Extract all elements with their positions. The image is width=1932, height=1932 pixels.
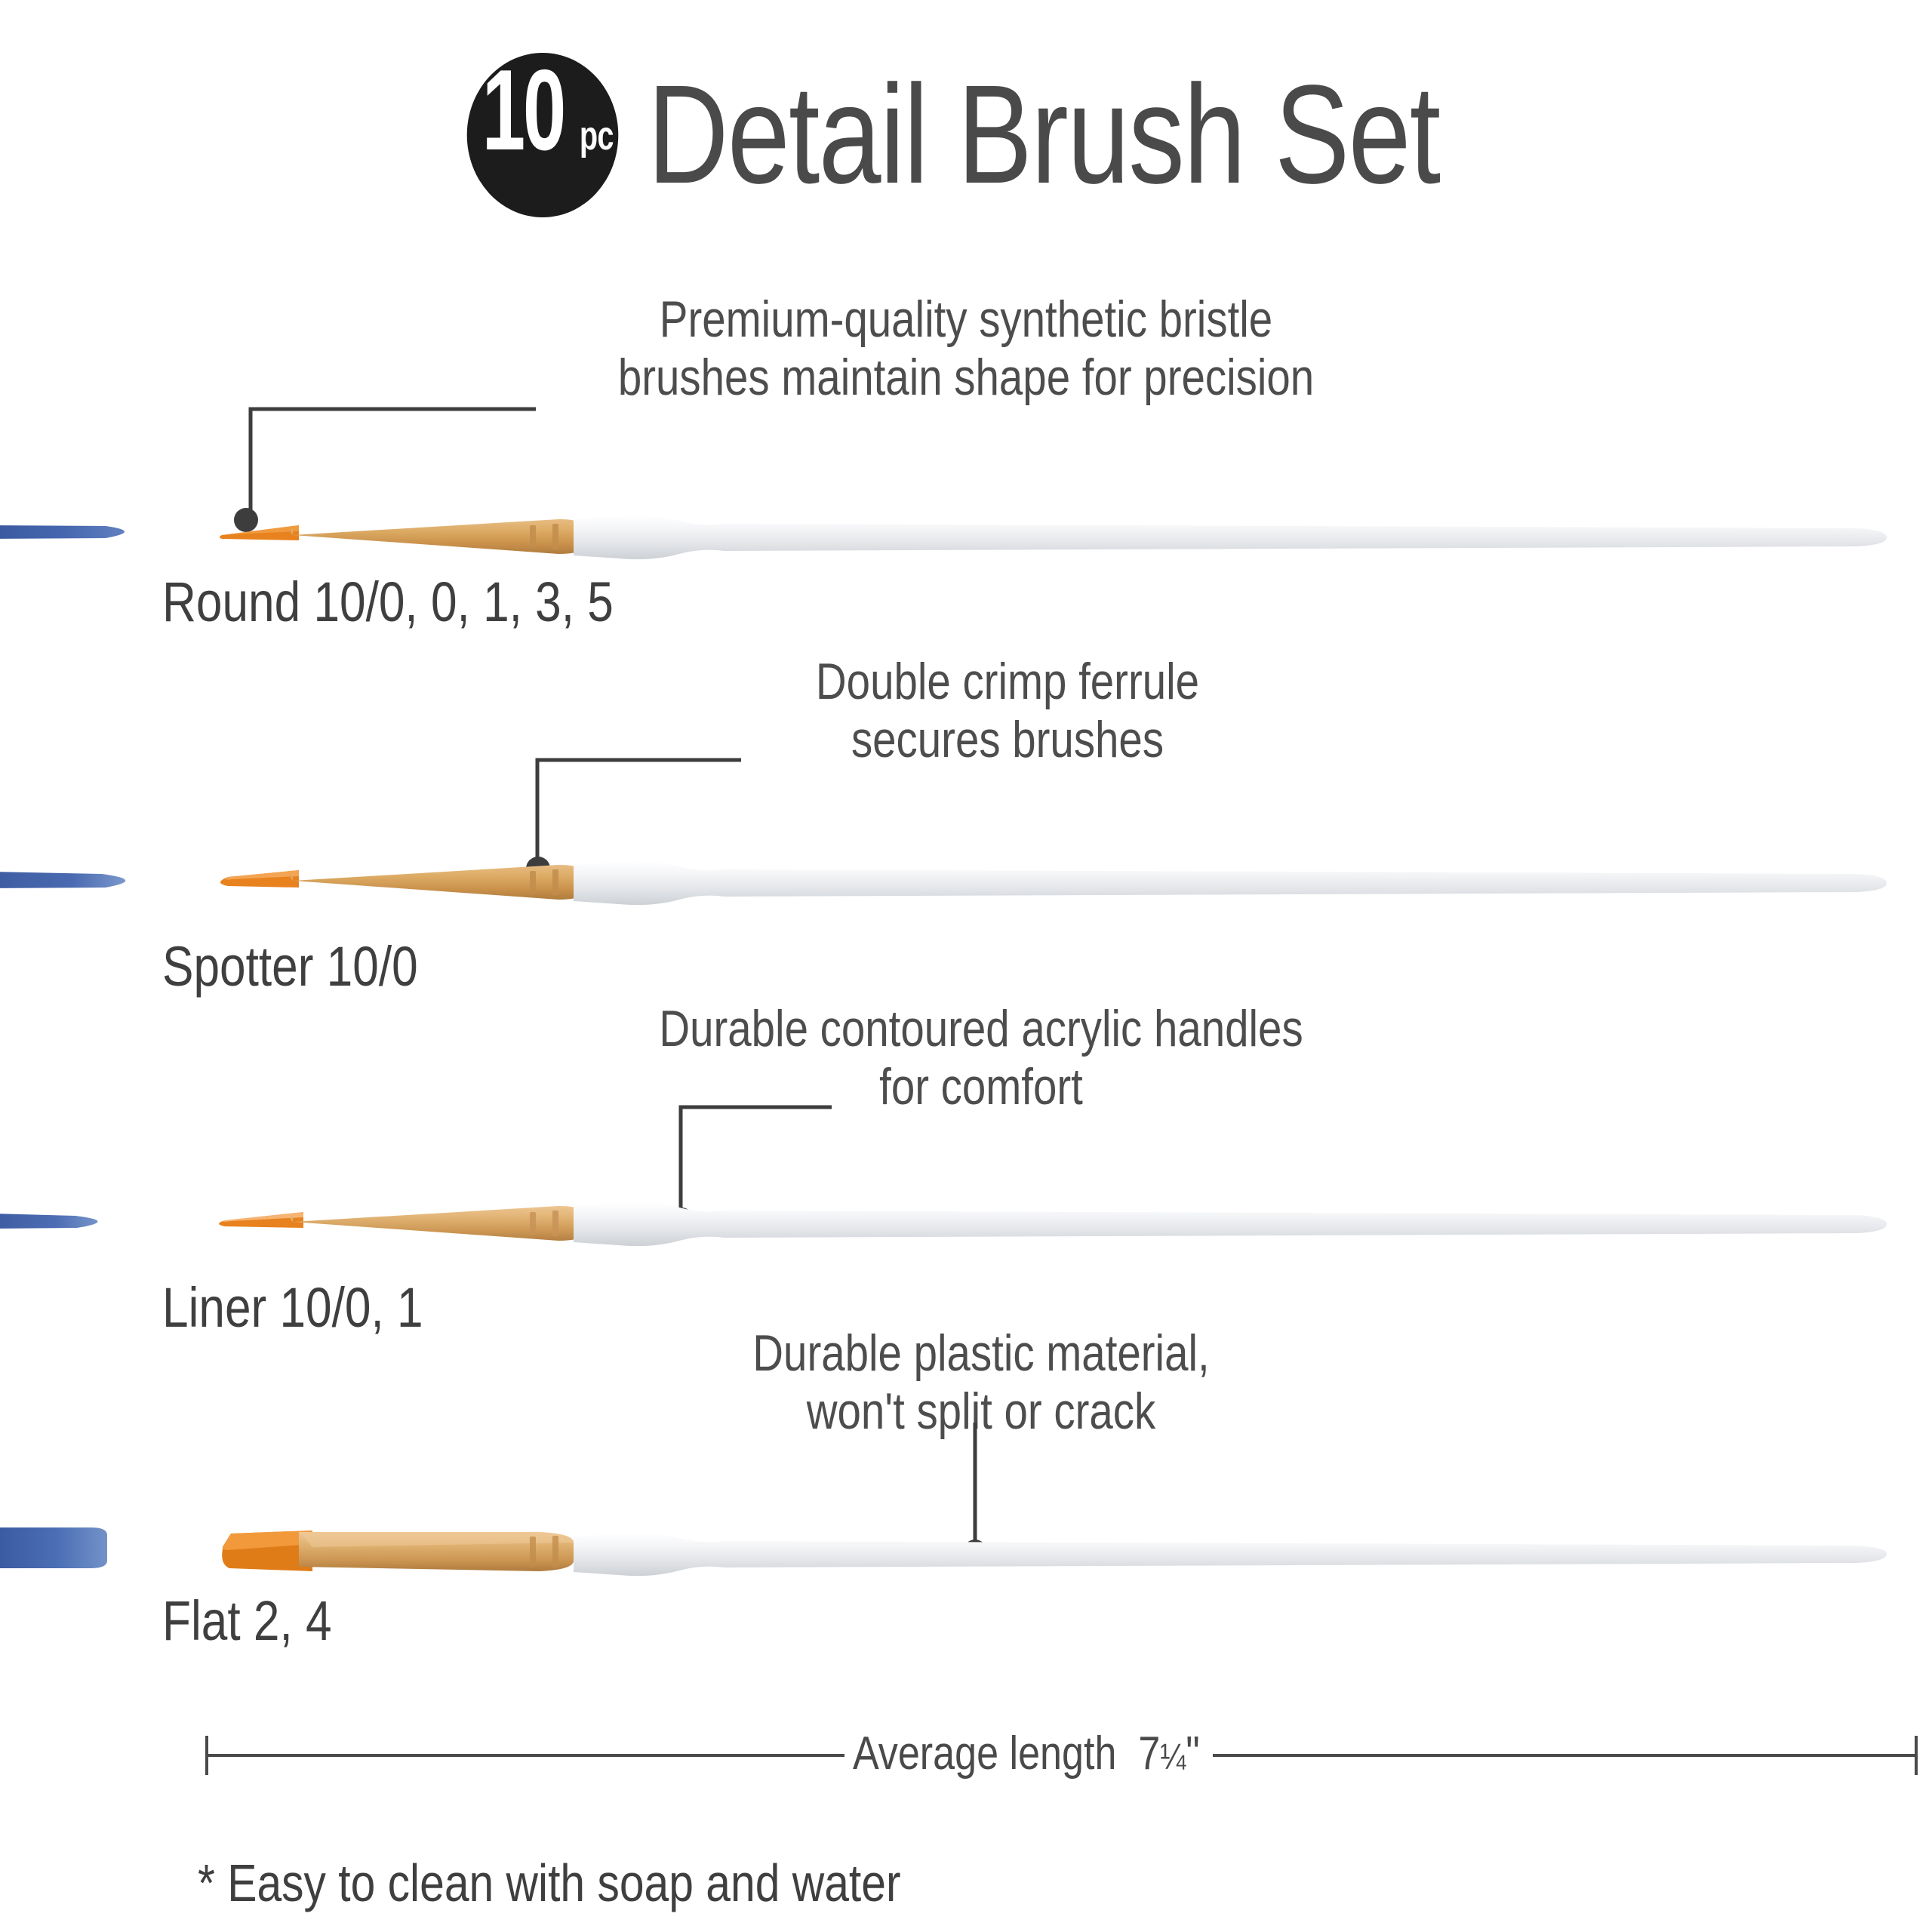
brush-label-spotter: Spotter 10/0	[162, 934, 418, 998]
piece-count-badge: 10 pc	[467, 53, 619, 217]
handle-round	[574, 506, 1909, 569]
infographic-canvas: 10 pc Detail Brush Set Premium-quality s…	[0, 0, 1932, 1932]
callout-plastic-material: Durable plastic material, won't split or…	[687, 1324, 1275, 1441]
paint-stroke-spotter	[0, 866, 155, 897]
callout-handle-comfort: Durable contoured acrylic handles for co…	[605, 1000, 1357, 1116]
paint-stroke-liner	[0, 1207, 128, 1238]
callout-ferrule-crimp: Double crimp ferrule secures brushes	[741, 653, 1274, 769]
dimension-label-prefix: Average length	[853, 1727, 1116, 1780]
brush-label-flat: Flat 2, 4	[162, 1589, 332, 1653]
ferrule-liner	[287, 1200, 589, 1247]
ferrule-spotter	[287, 859, 589, 906]
footnote: * Easy to clean with soap and water	[198, 1853, 901, 1913]
handle-flat	[574, 1526, 1909, 1580]
dimension-unit: "	[1186, 1727, 1199, 1780]
dimension-label: Average length 7¼"	[853, 1727, 1200, 1780]
handle-liner	[574, 1192, 1909, 1256]
badge-unit: pc	[580, 115, 614, 156]
handle-spotter	[574, 851, 1909, 915]
page-title: 10 pc Detail Brush Set	[460, 53, 1638, 217]
dimension-line-left	[207, 1754, 844, 1757]
paint-stroke-flat	[0, 1524, 136, 1577]
brush-label-round: Round 10/0, 0, 1, 3, 5	[162, 570, 614, 634]
paint-stroke-round	[0, 519, 151, 546]
dimension-value-fraction: ¼	[1160, 1737, 1186, 1777]
dimension-line-right	[1213, 1754, 1917, 1757]
brush-label-liner: Liner 10/0, 1	[162, 1275, 423, 1340]
badge-number: 10	[482, 53, 564, 168]
dimension-tick-right	[1915, 1736, 1918, 1775]
ferrule-flat	[297, 1529, 592, 1576]
callout-bristle-quality: Premium-quality synthetic bristle brushe…	[565, 291, 1367, 407]
dimension-value-whole: 7	[1138, 1727, 1160, 1780]
ferrule-round	[287, 513, 589, 560]
title-text: Detail Brush Set	[648, 65, 1440, 205]
